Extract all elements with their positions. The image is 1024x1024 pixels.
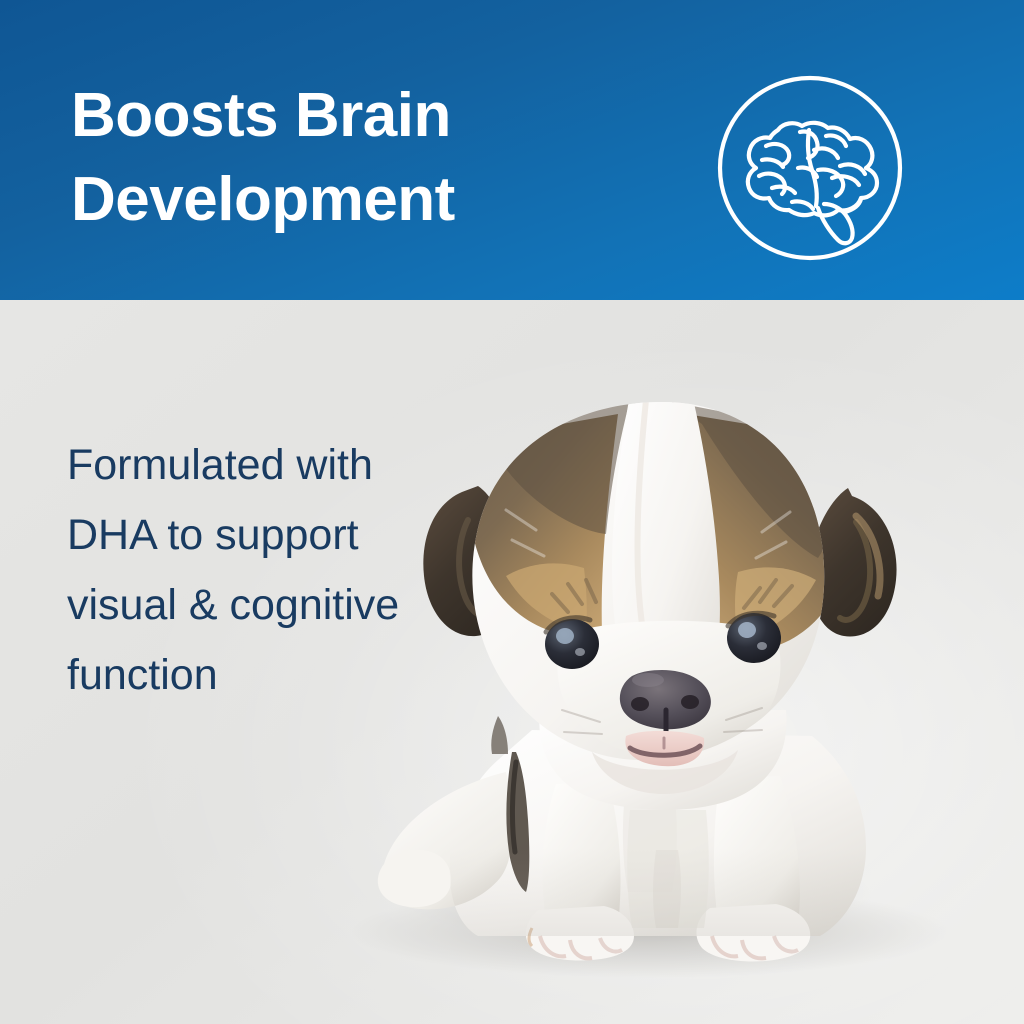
promo-card: Formulated with DHA to support visual & … bbox=[0, 0, 1024, 1024]
page-title: Boosts Brain Development bbox=[71, 74, 691, 242]
body-copy: Formulated with DHA to support visual & … bbox=[67, 430, 487, 710]
brain-icon bbox=[714, 72, 906, 264]
